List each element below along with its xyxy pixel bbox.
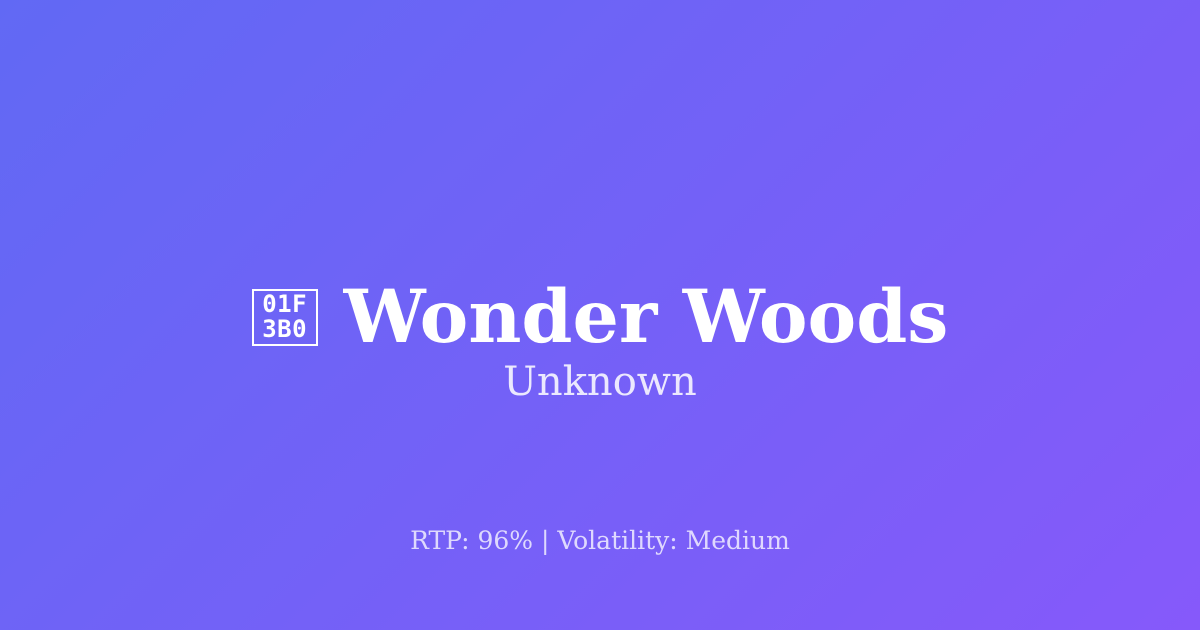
provider-label: Unknown xyxy=(0,362,1200,402)
game-meta-line: RTP: 96% | Volatility: Medium xyxy=(0,528,1200,553)
slot-machine-icon-codepoint-upper: 01F xyxy=(262,292,307,317)
slot-machine-icon: 01F 3B0 xyxy=(252,289,318,346)
game-preview-card: 01F 3B0 Wonder Woods Unknown RTP: 96% | … xyxy=(0,0,1200,630)
game-title: Wonder Woods xyxy=(344,281,949,354)
slot-machine-icon-codepoint-lower: 3B0 xyxy=(262,317,307,342)
